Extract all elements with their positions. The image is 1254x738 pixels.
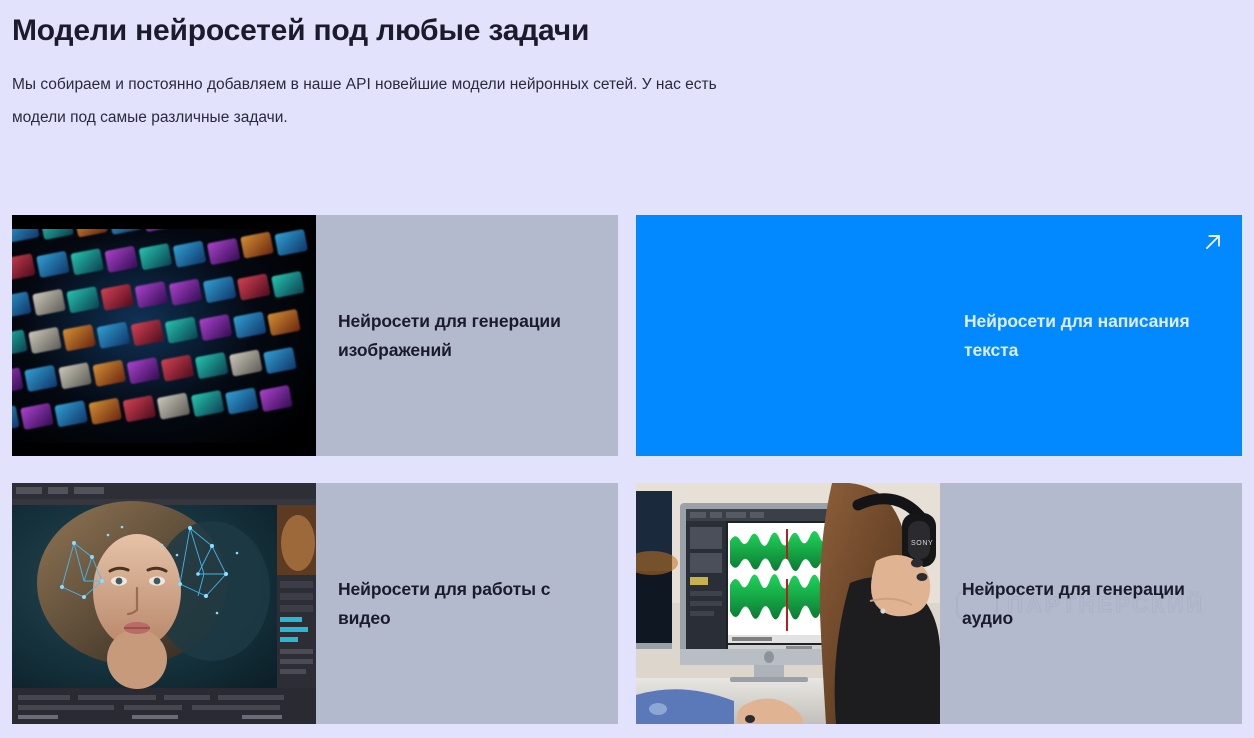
card-image-audio-studio: SONY (636, 483, 940, 724)
card-title: Нейросети для генерации аудио (962, 575, 1218, 632)
card-title: Нейросети для генерации изображений (338, 307, 594, 364)
models-section: Модели нейросетей под любые задачи Мы со… (0, 0, 1254, 738)
card-body: Нейросети для работы с видео (316, 483, 618, 724)
card-title: Нейросети для написания текста (964, 307, 1218, 364)
section-description: Мы собираем и постоянно добавляем в наше… (12, 69, 742, 134)
card-video-work[interactable]: Нейросети для работы с видео (12, 483, 618, 724)
card-image-generation[interactable]: Нейросети для генерации изображений (12, 215, 618, 456)
card-audio-generation[interactable]: SONY (636, 483, 1242, 724)
card-image-video-editor (12, 483, 316, 724)
arrow-up-right-icon[interactable] (1200, 229, 1226, 255)
card-title: Нейросети для работы с видео (338, 575, 594, 632)
card-text-writing[interactable]: Нейросети для написания текста (636, 215, 1242, 456)
svg-text:SONY: SONY (911, 540, 933, 547)
card-body: Нейросети для генерации изображений (316, 215, 618, 456)
card-body: Нейросети для написания текста (940, 215, 1242, 456)
model-category-grid: Нейросети для генерации изображений (12, 215, 1242, 724)
card-body: ПАРТНЕРСКИЙ Нейросети для генерации ауди… (940, 483, 1242, 724)
page-title: Модели нейросетей под любые задачи (12, 0, 1242, 47)
card-image-media-wall (12, 215, 316, 456)
